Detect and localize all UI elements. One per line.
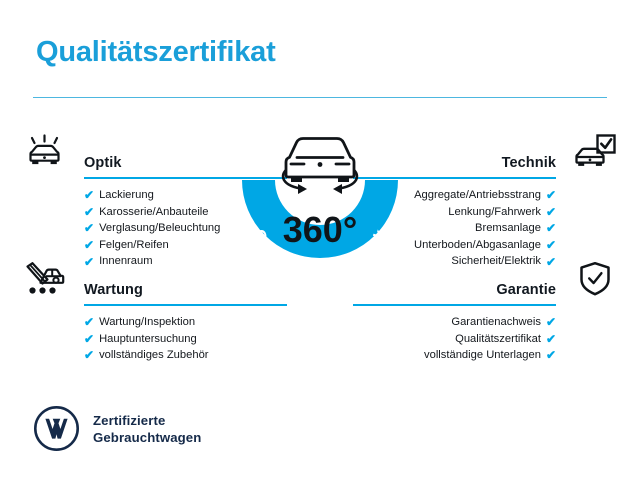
- page-title: Qualitätszertifikat: [36, 36, 276, 69]
- footer-brand: Zertifizierte Gebrauchtwagen: [33, 405, 201, 452]
- list-item: ✔ Qualitätszertifikat: [353, 331, 556, 348]
- list-item-label: Felgen/Reifen: [99, 237, 169, 254]
- pen-car-service-icon: [22, 260, 68, 302]
- car-checkbox-icon: [572, 133, 618, 175]
- check-icon: ✔: [84, 206, 94, 218]
- list-item-label: Qualitätszertifikat: [455, 331, 541, 348]
- section-title-optik: Optik: [84, 155, 122, 171]
- section-title-wartung: Wartung: [84, 282, 143, 298]
- list-item-label: vollständiges Zubehör: [99, 347, 208, 364]
- list-item-label: Hauptuntersuchung: [99, 331, 197, 348]
- check-icon: ✔: [84, 316, 94, 328]
- list-item: ✔ Hauptuntersuchung: [84, 331, 287, 348]
- vw-brand-text: Zertifizierte Gebrauchtwagen: [93, 412, 201, 446]
- list-item-label: Lackierung: [99, 187, 154, 204]
- vw-logo-icon: [33, 405, 80, 452]
- badge-360-gebrauchtwagen-check: 360° Gebrauchtwagen-Check: [231, 117, 409, 307]
- list-item-label: Garantienachweis: [451, 314, 541, 331]
- list-item-label: Aggregate/Antriebsstrang: [414, 187, 541, 204]
- list-item: ✔ vollständiges Zubehör: [84, 347, 287, 364]
- list-item-label: Karosserie/Anbauteile: [99, 204, 208, 221]
- check-icon: ✔: [84, 222, 94, 234]
- list-item: ✔ Garantienachweis: [353, 314, 556, 331]
- list-item: ✔ Wartung/Inspektion: [84, 314, 287, 331]
- check-icon: ✔: [546, 222, 556, 234]
- check-icon: ✔: [546, 239, 556, 251]
- list-item-label: Lenkung/Fahrwerk: [448, 204, 541, 221]
- list-item-label: Unterboden/Abgasanlage: [414, 237, 541, 254]
- vw-brand-line-1: Zertifizierte: [93, 412, 201, 429]
- section-title-garantie: Garantie: [496, 282, 556, 298]
- list-item-label: Wartung/Inspektion: [99, 314, 195, 331]
- svg-text:360°: 360°: [283, 209, 357, 250]
- list-item-label: Verglasung/Beleuchtung: [99, 220, 220, 237]
- check-icon: ✔: [546, 189, 556, 201]
- section-title-technik: Technik: [502, 155, 556, 171]
- list-item-label: Bremsanlage: [475, 220, 541, 237]
- check-icon: ✔: [546, 316, 556, 328]
- shield-check-icon: [572, 260, 618, 302]
- vw-brand-line-2: Gebrauchtwagen: [93, 429, 201, 446]
- check-icon: ✔: [84, 349, 94, 361]
- list-item-label: vollständige Unterlagen: [424, 347, 541, 364]
- check-icon: ✔: [546, 206, 556, 218]
- qualitaetszertifikat-page: Qualitätszertifikat Optik: [0, 0, 640, 480]
- check-icon: ✔: [84, 189, 94, 201]
- car-shine-icon: [22, 133, 68, 175]
- check-icon: ✔: [84, 333, 94, 345]
- title-divider: [33, 97, 607, 98]
- list-item: ✔ vollständige Unterlagen: [353, 347, 556, 364]
- checklist-wartung: ✔ Wartung/Inspektion ✔ Hauptuntersuchung…: [22, 314, 287, 364]
- check-icon: ✔: [546, 333, 556, 345]
- check-icon: ✔: [84, 239, 94, 251]
- checklist-garantie: ✔ Garantienachweis ✔ Qualitätszertifikat…: [353, 314, 618, 364]
- check-icon: ✔: [546, 349, 556, 361]
